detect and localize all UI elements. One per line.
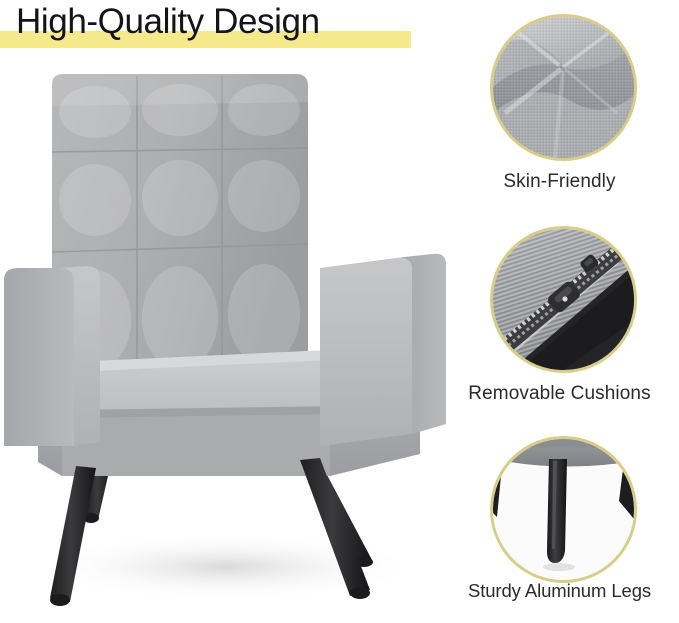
chair-arm-right [320,254,446,446]
leg-foot-front-right [350,587,370,599]
feature-skin-friendly: Skin-Friendly [440,8,679,213]
tapered-leg-image [493,439,634,580]
marketing-infographic: High-Quality Design [0,0,679,623]
arm-left-outer [4,268,74,446]
feature-label-removable-cushions: Removable Cushions [440,383,679,405]
zipper-icon [490,226,637,373]
feature-label-sturdy-aluminum-legs: Sturdy Aluminum Legs [440,580,679,602]
chair-leg-icon [490,436,637,583]
feature-removable-cushions: Removable Cushions [440,220,679,425]
feature-sturdy-aluminum-legs: Sturdy Aluminum Legs [440,430,679,623]
fabric-weave-image [493,17,634,158]
page-title-text: High-Quality Design [16,0,320,44]
page-title: High-Quality Design [0,0,440,56]
product-image-armchair [0,62,452,623]
leg-foot-front-left [50,594,70,606]
feature-label-skin-friendly: Skin-Friendly [440,171,679,193]
armchair-illustration [0,62,452,623]
chair-arm-left [4,266,100,446]
backrest-top-highlight [52,74,308,106]
fabric-texture-icon [490,14,637,161]
arm-right-inner [320,258,412,446]
zipper-closeup-image [493,229,634,370]
chair-front-rail [62,412,330,476]
